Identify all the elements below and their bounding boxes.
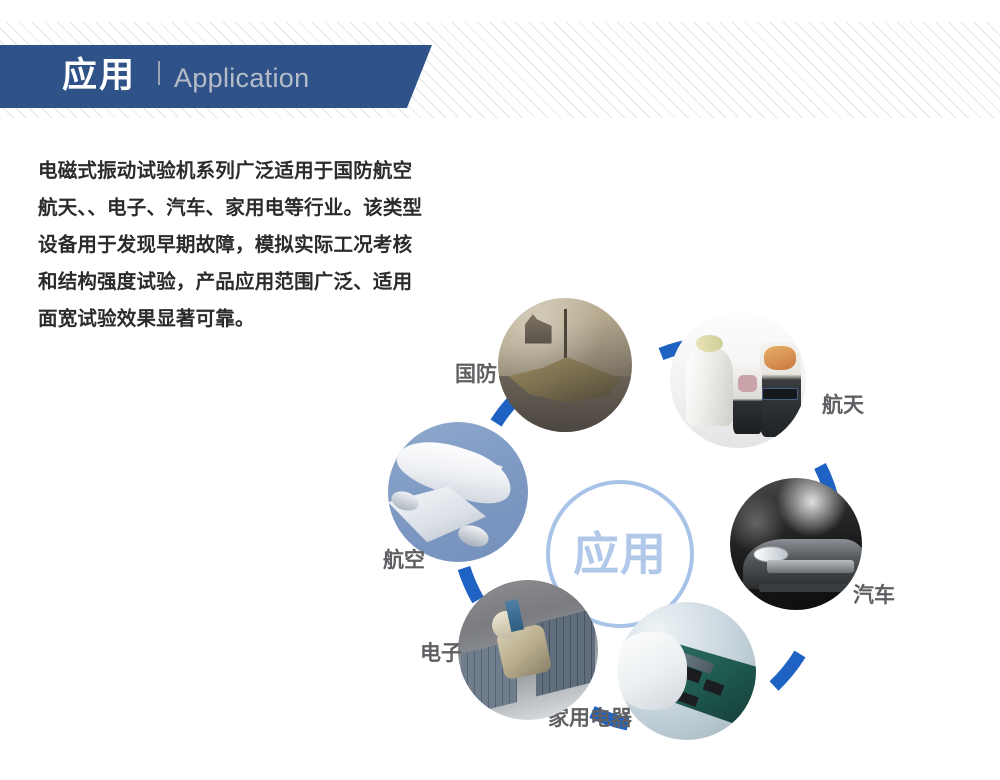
diagram-node-home[interactable] bbox=[618, 602, 756, 740]
title-separator bbox=[158, 61, 160, 85]
diagram-label-aerospace: 航天 bbox=[822, 395, 864, 416]
application-page: 应用 Application 电磁式振动试验机系列广泛适用于国防航空航天、、电子… bbox=[0, 0, 1000, 780]
kitchen-appliances-image bbox=[670, 312, 806, 448]
page-title: 应用 bbox=[62, 59, 136, 94]
diagram-node-elec[interactable] bbox=[458, 580, 598, 720]
car-front-headlight-image bbox=[730, 478, 862, 610]
passenger-airliner-image bbox=[388, 422, 528, 562]
diagram-node-auto[interactable] bbox=[730, 478, 862, 610]
banner-title-group: 应用 Application bbox=[62, 59, 309, 94]
diagram-node-aerospace[interactable] bbox=[670, 312, 806, 448]
diagram-label-elec: 电子 bbox=[420, 643, 462, 664]
page-title-english: Application bbox=[174, 65, 309, 92]
diagram-label-defense: 国防 bbox=[455, 364, 497, 385]
diagram-label-auto: 汽车 bbox=[853, 585, 895, 606]
diagram-node-defense[interactable] bbox=[498, 298, 632, 432]
connector-auto-home bbox=[774, 654, 800, 686]
gloved-hand-circuit-board-image bbox=[618, 602, 756, 740]
center-label: 应用 bbox=[573, 531, 667, 577]
application-diagram: 应用 国防 航天 汽车 bbox=[370, 280, 930, 770]
section-banner: 应用 Application bbox=[0, 45, 432, 108]
satellite-solar-panels-image bbox=[458, 580, 598, 720]
diagram-label-avia: 航空 bbox=[383, 550, 425, 571]
fighter-jet-on-aircraft-carrier-image bbox=[498, 298, 632, 432]
diagram-node-avia[interactable] bbox=[388, 422, 528, 562]
